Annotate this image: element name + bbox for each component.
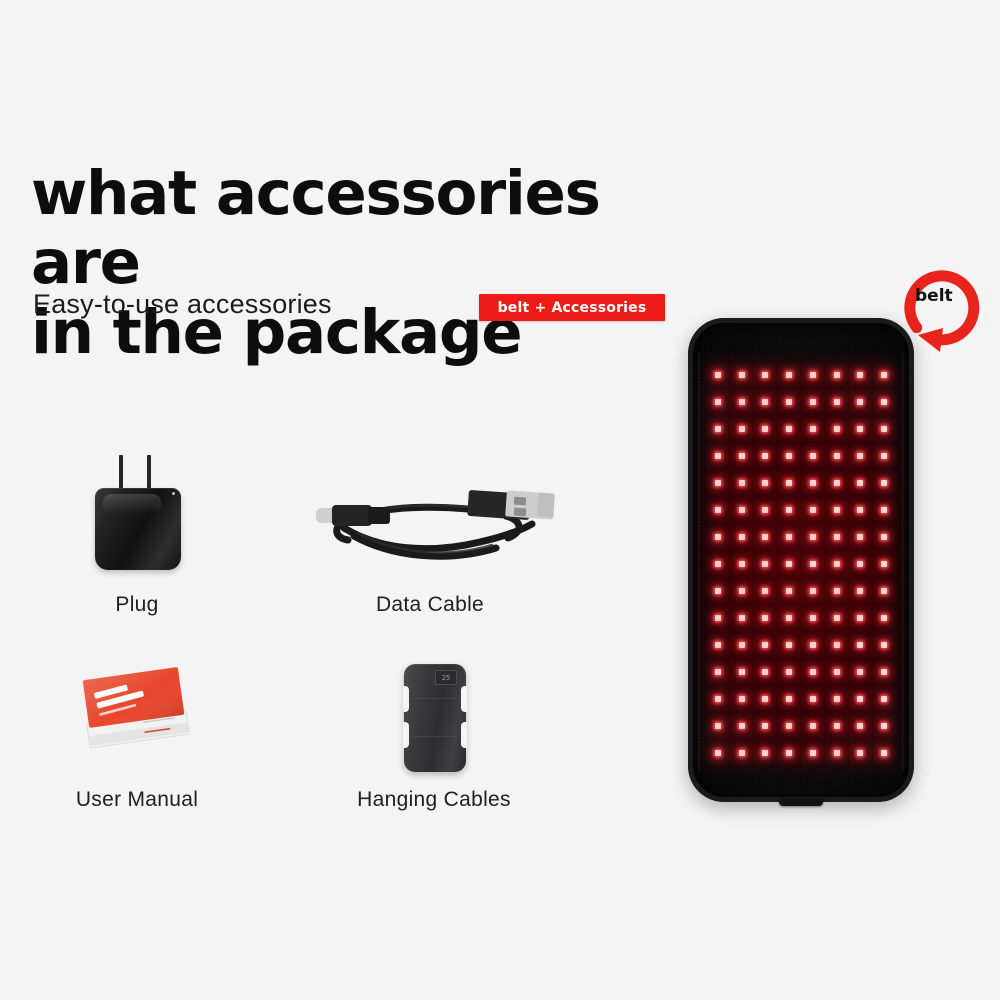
status-badge: belt + Accessories xyxy=(479,294,665,321)
accessory-label-data-cable: Data Cable xyxy=(376,593,484,617)
plug-body xyxy=(95,488,181,570)
hanging-cables-tag-text: 25 xyxy=(442,674,450,682)
page-title: what accessories are in the package xyxy=(31,159,711,368)
hanging-seam-bottom xyxy=(412,736,458,737)
plug-icon xyxy=(95,455,181,570)
hanging-notch-top-right xyxy=(461,686,467,712)
hanging-cables-tag: 25 xyxy=(435,670,457,685)
red-light-therapy-belt xyxy=(688,318,914,802)
status-badge-label: belt + Accessories xyxy=(498,300,647,316)
belt-edge-binding xyxy=(688,318,914,802)
user-manual-icon xyxy=(76,665,200,765)
accessory-label-plug: Plug xyxy=(115,593,158,617)
plug-highlight xyxy=(103,494,161,514)
hanging-notch-top-left xyxy=(403,686,409,712)
hanging-cables-body: 25 xyxy=(404,664,466,772)
page-subtitle: Easy-to-use accessories xyxy=(33,289,332,320)
belt-callout-label: belt xyxy=(915,286,953,306)
accessory-label-user-manual: User Manual xyxy=(76,788,198,812)
infographic-page: what accessories are in the package Easy… xyxy=(0,0,1000,1000)
data-cable-icon xyxy=(310,480,560,575)
plug-indicator-dot xyxy=(172,492,175,495)
accessory-label-hanging-cables: Hanging Cables xyxy=(357,788,511,812)
hanging-seam-top xyxy=(412,698,458,699)
hanging-notch-bottom-left xyxy=(403,722,409,748)
hanging-notch-bottom-right xyxy=(461,722,467,748)
hanging-cables-icon: 25 xyxy=(404,664,466,772)
